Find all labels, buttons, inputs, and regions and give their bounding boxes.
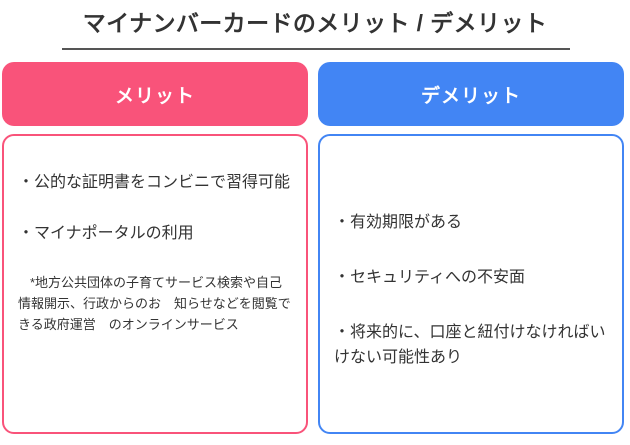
title-divider — [62, 48, 570, 50]
column-body-demerit: ・有効期限がある ・セキュリティへの不安面 ・将来的に、口座と紐付けなければいけ… — [318, 134, 624, 434]
column-body-merit: ・公的な証明書をコンビニで習得可能 ・マイナポータルの利用 *地方公共団体の子育… — [2, 134, 308, 434]
list-item: ・公的な証明書をコンビニで習得可能 — [18, 170, 292, 195]
list-item: ・将来的に、口座と紐付けなければいけない可能性あり — [334, 320, 608, 370]
column-header-merit-label: メリット — [115, 81, 195, 108]
list-item: ・セキュリティへの不安面 — [334, 265, 608, 290]
footnote-merit: *地方公共団体の子育てサービス検索や自己情報開示、行政からのお 知らせなどを閲覧… — [18, 272, 292, 335]
column-demerit: デメリット ・有効期限がある ・セキュリティへの不安面 ・将来的に、口座と紐付け… — [318, 62, 624, 126]
list-item: ・マイナポータルの利用 — [18, 221, 292, 246]
column-body-demerit-content: ・有効期限がある ・セキュリティへの不安面 ・将来的に、口座と紐付けなければいけ… — [320, 210, 622, 370]
list-item: ・有効期限がある — [334, 210, 608, 235]
column-body-merit-content: ・公的な証明書をコンビニで習得可能 ・マイナポータルの利用 *地方公共団体の子育… — [4, 170, 306, 335]
column-header-demerit: デメリット — [318, 62, 624, 126]
page-title: マイナンバーカードのメリット / デメリット — [0, 8, 630, 38]
column-header-merit: メリット — [2, 62, 308, 126]
column-merit: メリット ・公的な証明書をコンビニで習得可能 ・マイナポータルの利用 *地方公共… — [2, 62, 308, 126]
title-block: マイナンバーカードのメリット / デメリット — [0, 0, 630, 56]
column-header-demerit-label: デメリット — [421, 81, 521, 108]
comparison-columns: メリット ・公的な証明書をコンビニで習得可能 ・マイナポータルの利用 *地方公共… — [0, 62, 630, 445]
infographic-root: マイナンバーカードのメリット / デメリット メリット ・公的な証明書をコンビニ… — [0, 0, 630, 445]
